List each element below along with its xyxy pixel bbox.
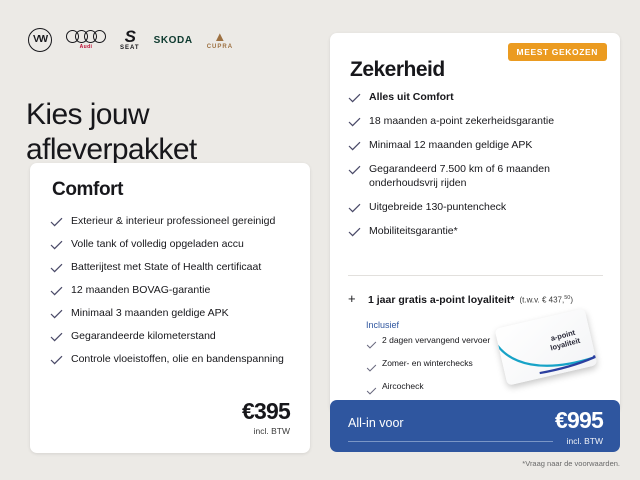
check-icon [348,203,362,213]
skoda-wordmark: SKODA [154,35,193,46]
list-item: Minimaal 12 maanden geldige APK [348,139,610,153]
allin-price-footer: All-in voor €995 incl. BTW [330,400,620,452]
page-title: Kies jouw afleverpakket [26,98,316,168]
loyalty-value-suffix: ) [570,296,573,305]
loyalty-value: (t.w.v. € 437,50) [519,295,573,305]
comfort-title: Comfort [52,179,123,201]
inclusief-item-text: Aircocheck [382,381,424,392]
feature-text: Batterijtest met State of Health certifi… [71,261,261,275]
check-icon [50,332,64,342]
list-item: 12 maanden BOVAG-garantie [50,284,296,298]
check-icon [366,336,377,354]
feature-text: Alles uit Comfort [369,91,454,105]
check-icon [50,309,64,319]
list-item: Volle tank of volledig opgeladen accu [50,238,296,252]
check-icon [50,286,64,296]
comfort-price-amount: €395 [242,400,290,423]
footer-rule [348,441,553,442]
list-item: Aircocheck [366,381,546,400]
volkswagen-logo: VW [28,28,52,52]
seat-s-icon: S [125,29,135,44]
feature-text: Gegarandeerd 7.500 km of 6 maanden onder… [369,163,610,191]
cupra-wordmark: CUPRA [207,44,233,50]
inclusief-item-text: Zomer- en winterchecks [382,358,473,369]
section-divider [348,275,603,276]
loyalty-value-prefix: (t.w.v. € 437, [519,296,564,305]
list-item: Exterieur & interieur professioneel gere… [50,215,296,229]
brand-logo-strip: VW Audi S SEAT SKODA ▲ CUPRA [28,27,233,53]
check-icon [348,93,362,103]
list-item: Gegarandeerde kilometerstand [50,330,296,344]
check-icon [348,227,362,237]
comfort-package-card[interactable]: Comfort Exterieur & interieur profession… [30,163,310,453]
feature-text: Minimaal 12 maanden geldige APK [369,139,532,153]
check-icon [348,117,362,127]
feature-text: Minimaal 3 maanden geldige APK [71,307,229,321]
list-item: 18 maanden a-point zekerheidsgarantie [348,115,610,129]
check-icon [348,165,362,175]
feature-text: Controle vloeistoffen, olie en bandenspa… [71,353,284,367]
comfort-price-block: €395 incl. BTW [242,400,290,436]
allin-label: All-in voor [348,416,404,430]
skoda-logo: SKODA [154,35,193,46]
loyalty-bonus-row: + 1 jaar gratis a-point loyaliteit* (t.w… [348,292,613,306]
feature-text: Mobiliteitsgarantie* [369,225,458,239]
allin-price-amount: €995 [555,409,603,432]
feature-text: Exterieur & interieur professioneel gere… [71,215,275,229]
check-icon [366,359,377,377]
feature-text: Volle tank of volledig opgeladen accu [71,238,244,252]
audi-logo: Audi [66,30,106,50]
list-item: Alles uit Comfort [348,91,610,105]
check-icon [50,240,64,250]
check-icon [50,217,64,227]
feature-text: Gegarandeerde kilometerstand [71,330,216,344]
list-item: Gegarandeerd 7.500 km of 6 maanden onder… [348,163,610,191]
seat-logo: S SEAT [120,29,140,51]
feature-text: 18 maanden a-point zekerheidsgarantie [369,115,554,129]
list-item: Controle vloeistoffen, olie en bandenspa… [50,353,296,367]
feature-text: 12 maanden BOVAG-garantie [71,284,210,298]
check-icon [50,355,64,365]
page-title-line-1: Kies jouw [26,98,149,131]
check-icon [366,382,377,400]
list-item: Batterijtest met State of Health certifi… [50,261,296,275]
zekerheid-feature-list: Alles uit Comfort 18 maanden a-point zek… [348,91,610,249]
comfort-price-note: incl. BTW [242,426,290,436]
audi-wordmark: Audi [80,44,93,50]
cupra-logo: ▲ CUPRA [207,30,233,50]
seat-wordmark: SEAT [120,45,140,51]
cupra-tribal-icon: ▲ [213,30,226,43]
pricing-comparison-page: VW Audi S SEAT SKODA ▲ CUPRA Kies jouw a… [0,0,640,480]
loyalty-label: 1 jaar gratis a-point loyaliteit* [368,294,514,306]
check-icon [50,263,64,273]
list-item: Minimaal 3 maanden geldige APK [50,307,296,321]
vw-roundel-icon: VW [28,28,52,52]
audi-rings-icon [66,30,106,43]
allin-price-note: incl. BTW [567,436,603,446]
comfort-feature-list: Exterieur & interieur professioneel gere… [50,215,296,376]
list-item: Mobiliteitsgarantie* [348,225,610,239]
status-badge: MEEST GEKOZEN [508,43,607,61]
check-icon [348,141,362,151]
list-item: Uitgebreide 130-puntencheck [348,201,610,215]
inclusief-item-text: 2 dagen vervangend vervoer [382,335,490,346]
feature-text: Uitgebreide 130-puntencheck [369,201,506,215]
disclaimer-text: *Vraag naar de voorwaarden. [522,459,620,468]
zekerheid-title: Zekerheid [350,58,445,82]
plus-icon: + [348,292,362,305]
page-title-line-2: afleverpakket [26,133,197,166]
